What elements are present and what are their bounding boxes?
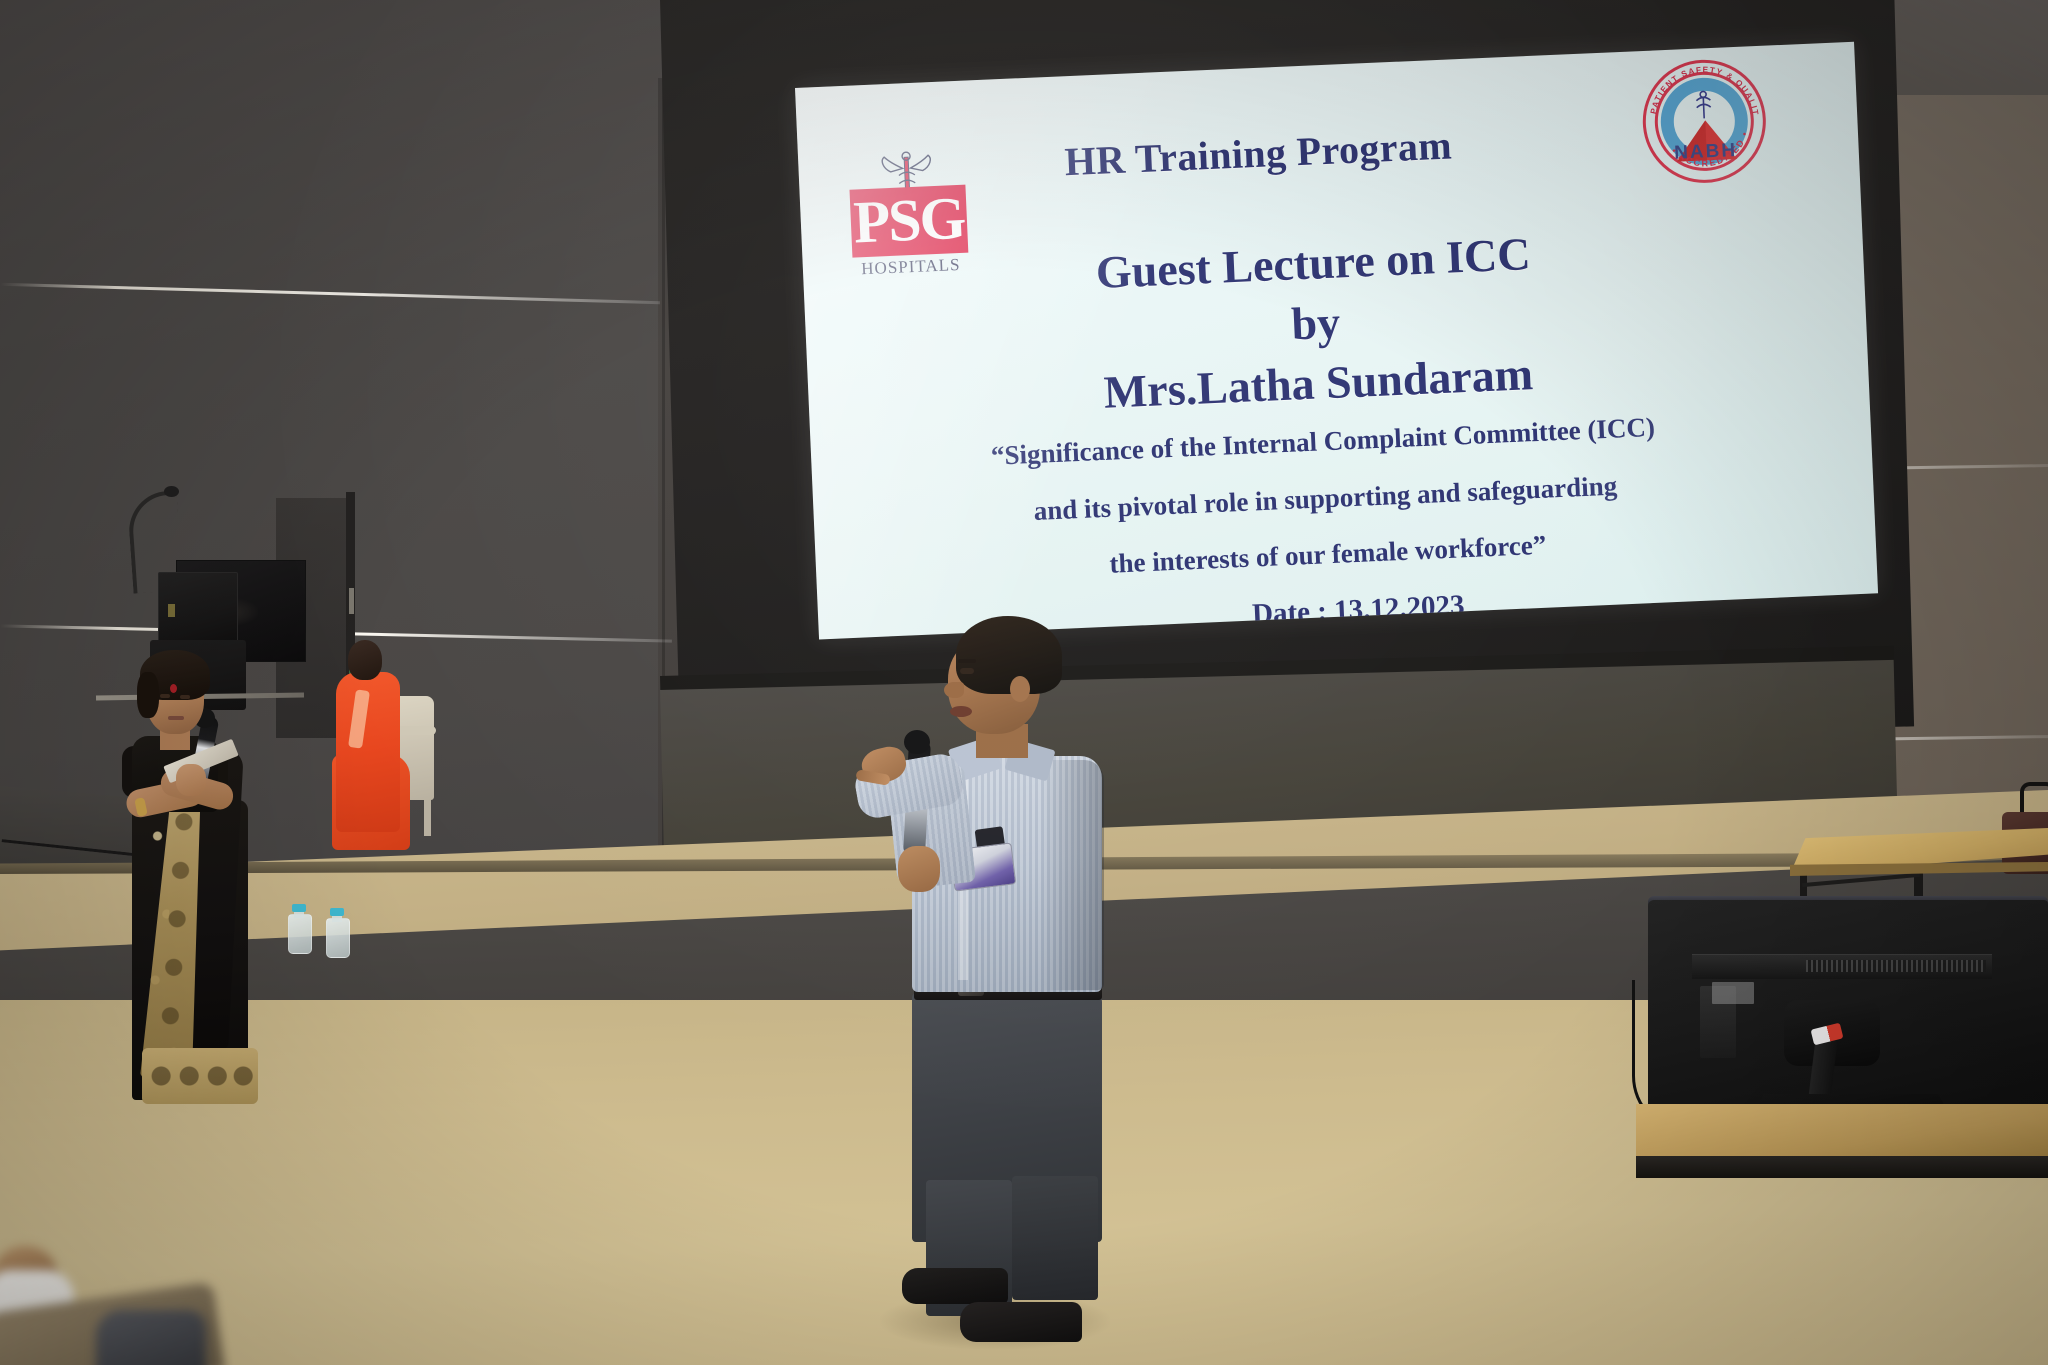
- auditorium-photo-scene: PSG HOSPITALS: [0, 0, 2048, 1365]
- microphone-head-icon: [904, 730, 930, 754]
- water-bottle-body: [326, 918, 350, 958]
- nabh-center-text: NABH: [1674, 140, 1738, 164]
- male-speaker-shoe: [960, 1302, 1082, 1342]
- audience-dark-clothing-blurred: [96, 1310, 206, 1365]
- male-speaker-ear: [1010, 676, 1030, 702]
- psg-logo-letters: PSG: [849, 181, 968, 260]
- nabh-accreditation-logo: PATIENT SAFETY & QUALITY OF CARE • ACCRE…: [1637, 54, 1773, 190]
- male-speaker-eye: [960, 668, 974, 674]
- male-speaker-hand-holding-mic: [898, 846, 940, 892]
- tv-table-edge: [1636, 1156, 2048, 1178]
- woman-speaker-bindi: [170, 684, 177, 693]
- water-bottle: [288, 904, 310, 952]
- tv-table-top: [1636, 1104, 2048, 1164]
- woman-speaker-hand: [176, 764, 206, 796]
- male-speaker-shirt-shading: [1040, 760, 1104, 990]
- woman-speaker-mouth: [168, 716, 184, 720]
- male-speaker-hair: [956, 616, 1062, 694]
- projection-screen: PSG HOSPITALS: [795, 42, 1878, 640]
- woman-speaker-eye: [160, 694, 170, 698]
- slide-title: HR Training Program: [1008, 119, 1510, 188]
- male-speaker-shoe: [902, 1268, 1008, 1304]
- male-speaker-leg: [1012, 1176, 1098, 1300]
- seated-woman-head: [348, 640, 382, 680]
- male-speaker-eyebrow: [958, 659, 976, 663]
- woman-speaker-saree-hem-pattern: [146, 1054, 254, 1098]
- water-bottle-cap: [330, 908, 344, 916]
- water-bottle-cap: [292, 904, 306, 912]
- tv-spec-label: [1712, 982, 1754, 1004]
- woman-speaker-hair-bun: [137, 672, 159, 718]
- male-speaker-mouth: [950, 706, 972, 717]
- lectern-monitor-led-icon: [168, 604, 175, 617]
- tv-vent-grill: [1806, 960, 1986, 972]
- water-bottle-body: [288, 914, 312, 954]
- presentation-slide: PSG HOSPITALS: [795, 42, 1878, 640]
- microphone-head-icon: [164, 486, 179, 497]
- male-speaker-nose: [944, 682, 964, 698]
- door-handle-icon[interactable]: [349, 588, 354, 614]
- woman-speaker-eye: [180, 695, 190, 699]
- water-bottle: [326, 908, 348, 956]
